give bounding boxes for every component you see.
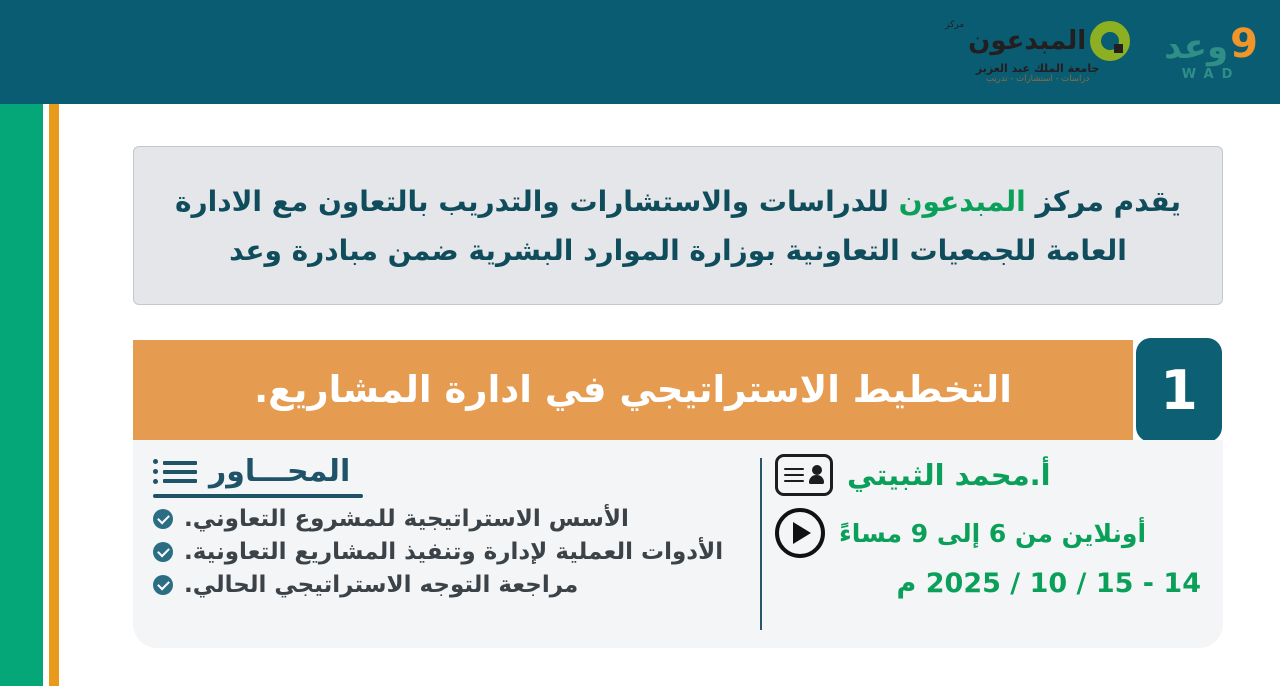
check-icon <box>153 575 173 595</box>
topics-heading: المحـــاور <box>209 454 350 489</box>
course-number: 1 <box>1160 359 1198 422</box>
play-circle-icon <box>775 508 825 558</box>
wad-arabic-text: وعد <box>1164 30 1228 64</box>
kau-university-name: جامعة الملك عبد العزيز <box>976 63 1100 74</box>
topic-text: الأسس الاستراتيجية للمشروع التعاوني. <box>184 506 629 532</box>
list-icon-lines <box>163 461 197 483</box>
wad-logo: 9 وعد WAD <box>1164 24 1258 81</box>
kau-mubdioun-logo: المبدعون مركز جامعة الملك عبد العزيز درا… <box>945 21 1130 84</box>
intro-text-part1: يقدم مركز <box>1026 185 1181 218</box>
kau-arabic-mark: المبدعون <box>968 28 1086 54</box>
kau-logo-mark-row: المبدعون مركز <box>945 21 1130 61</box>
trainer-name: أ.محمد الثبيتي <box>847 458 1051 492</box>
schedule-date: 14 - 15 / 10 / 2025 م <box>775 568 1205 599</box>
list-icon-dots <box>153 459 158 484</box>
poster-root: 9 وعد WAD المبدعون مركز جامعة الملك عبد … <box>0 0 1280 686</box>
schedule-time-row: أونلاين من 6 إلى 9 مساءً <box>775 508 1146 558</box>
topics-column: المحـــاور الأسس الاستراتيجية للمشروع ال… <box>153 454 753 605</box>
header-solid-block <box>0 0 660 104</box>
topic-text: مراجعة التوجه الاستراتيجي الحالي. <box>184 572 578 598</box>
header-logos: 9 وعد WAD المبدعون مركز جامعة الملك عبد … <box>945 0 1258 104</box>
course-title-bar: التخطيط الاستراتيجي في ادارة المشاريع. <box>133 340 1133 440</box>
id-card-icon <box>775 454 833 496</box>
left-green-bar <box>0 104 43 686</box>
left-orange-bar <box>49 104 59 686</box>
wad-latin-text: WAD <box>1182 68 1241 81</box>
course-title: التخطيط الاستراتيجي في ادارة المشاريع. <box>254 369 1012 412</box>
kau-ring-icon <box>1090 21 1130 61</box>
topic-item: الأسس الاستراتيجية للمشروع التعاوني. <box>153 506 629 532</box>
trainer-schedule-column: أ.محمد الثبيتي أونلاين من 6 إلى 9 مساءً … <box>775 454 1205 599</box>
details-panel: أ.محمد الثبيتي أونلاين من 6 إلى 9 مساءً … <box>133 440 1223 648</box>
play-triangle-glyph <box>793 522 811 544</box>
schedule-time: أونلاين من 6 إلى 9 مساءً <box>839 519 1146 548</box>
topic-text: الأدوات العملية لإدارة وتنفيذ المشاريع ا… <box>184 539 723 565</box>
check-icon <box>153 509 173 529</box>
course-number-badge: 1 <box>1133 335 1225 445</box>
topics-underline <box>153 494 363 498</box>
topic-item: الأدوات العملية لإدارة وتنفيذ المشاريع ا… <box>153 539 723 565</box>
id-card-lines <box>784 468 804 483</box>
topics-heading-row: المحـــاور <box>153 454 350 489</box>
kau-services-subtitle: دراسات - استشارات - تدريب <box>986 75 1089 84</box>
panel-vertical-divider <box>760 458 762 630</box>
list-icon <box>153 459 197 484</box>
check-icon <box>153 542 173 562</box>
person-glyph <box>809 465 824 485</box>
wad-arabic-wordmark: 9 وعد <box>1164 24 1258 64</box>
wad-nine-glyph: 9 <box>1230 24 1258 64</box>
intro-text-highlight: المبدعون <box>899 185 1026 218</box>
topic-item: مراجعة التوجه الاستراتيجي الحالي. <box>153 572 578 598</box>
course-title-row: التخطيط الاستراتيجي في ادارة المشاريع. 1 <box>133 340 1223 440</box>
trainer-row: أ.محمد الثبيتي <box>775 454 1051 496</box>
intro-box: يقدم مركز المبدعون للدراسات والاستشارات … <box>133 146 1223 305</box>
intro-text: يقدم مركز المبدعون للدراسات والاستشارات … <box>160 177 1196 275</box>
kau-markaz-label: مركز <box>945 21 964 30</box>
